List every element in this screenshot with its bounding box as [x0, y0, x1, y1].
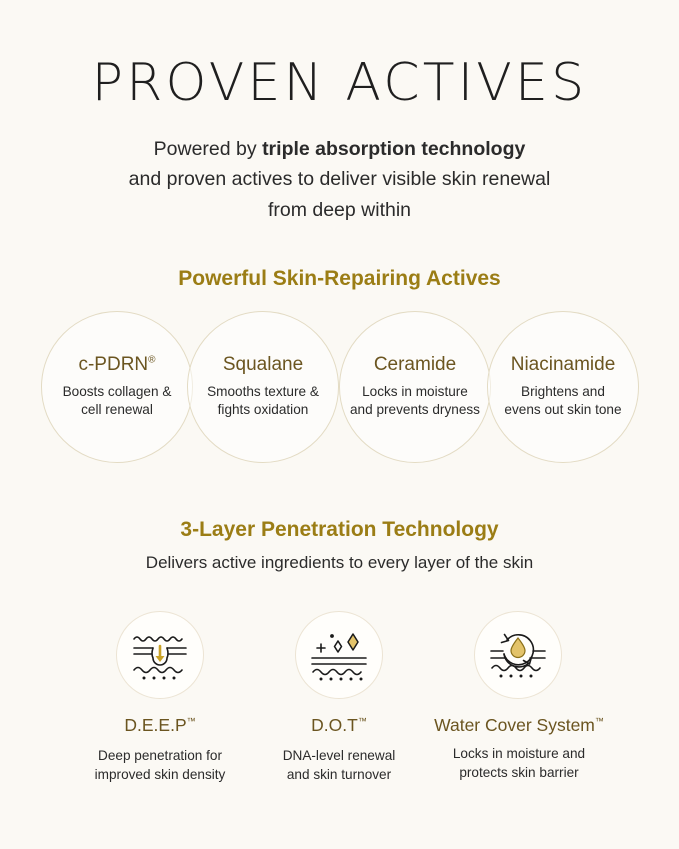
trademark-mark-icon: ™ — [187, 716, 196, 726]
subtitle-line-3: from deep within — [268, 199, 411, 221]
active-circle-squalane: Squalane Smooths texture & fights oxidat… — [187, 311, 339, 463]
active-description: Brightens and evens out skin tone — [504, 383, 621, 420]
skin-pore-absorption-icon — [128, 627, 192, 683]
technology-description: Locks in moisture and protects skin barr… — [409, 744, 629, 782]
active-name: Ceramide — [374, 355, 456, 374]
layers-subheading: Delivers active ingredients to every lay… — [0, 554, 679, 571]
icon-circle-deep — [116, 611, 204, 699]
skin-dots — [500, 675, 533, 678]
technology-label-row: D.E.E.P™ Deep penetration for improved s… — [0, 717, 679, 807]
active-description: Locks in moisture and prevents dryness — [350, 383, 480, 420]
gold-droplet-icon — [511, 638, 525, 658]
active-circle-ceramide: Ceramide Locks in moisture and prevents … — [339, 311, 491, 463]
header-subtitle: Powered by triple absorption technology … — [0, 134, 679, 225]
gold-down-arrow-icon — [156, 646, 165, 662]
subtitle-line-2: and proven actives to deliver visible sk… — [129, 168, 551, 190]
active-circle-niacinamide: Niacinamide Brightens and evens out skin… — [487, 311, 639, 463]
layers-section: 3-Layer Penetration Technology Delivers … — [0, 519, 679, 807]
active-name: Niacinamide — [511, 355, 616, 374]
trademark-mark-icon: ™ — [595, 716, 604, 726]
active-description: Boosts collagen & cell renewal — [63, 383, 172, 420]
technology-description: Deep penetration for improved skin densi… — [60, 746, 260, 784]
icon-circle-water-cover — [474, 611, 562, 699]
sparkles — [317, 634, 358, 652]
water-droplet-cycle-icon — [486, 627, 550, 683]
registered-mark-icon: ® — [148, 354, 155, 365]
technology-label-deep: D.E.E.P™ Deep penetration for improved s… — [60, 717, 260, 784]
page-title: PROVEN ACTIVES — [0, 0, 679, 109]
skin-dots — [320, 678, 363, 681]
technology-name: Water Cover System™ — [409, 717, 629, 735]
active-name: c-PDRN® — [78, 355, 155, 374]
actives-heading: Powerful Skin-Repairing Actives — [0, 225, 679, 289]
skin-sparkle-renewal-icon — [307, 627, 371, 683]
subtitle-line-1: Powered by triple absorption technology — [154, 138, 526, 160]
active-name: Squalane — [223, 355, 303, 374]
active-circle-c-pdrn: c-PDRN® Boosts collagen & cell renewal — [41, 311, 193, 463]
active-description: Smooths texture & fights oxidation — [207, 383, 319, 420]
skin-dots — [143, 677, 176, 680]
trademark-mark-icon: ™ — [358, 716, 367, 726]
layers-heading: 3-Layer Penetration Technology — [0, 519, 679, 540]
actives-circle-row: c-PDRN® Boosts collagen & cell renewal S… — [0, 311, 679, 471]
technology-label-water-cover: Water Cover System™ Locks in moisture an… — [409, 717, 629, 782]
technology-icon-row — [0, 611, 679, 703]
gold-sparkle-icon — [348, 634, 358, 650]
icon-circle-dot — [295, 611, 383, 699]
technology-name: D.E.E.P™ — [60, 717, 260, 735]
